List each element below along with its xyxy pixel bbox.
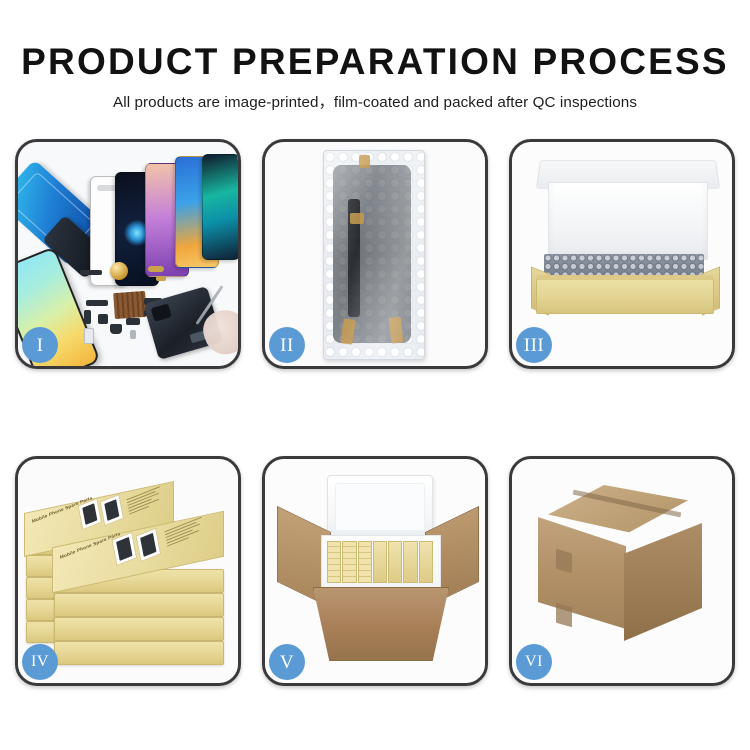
step-badge-5: V (269, 644, 305, 680)
kraft-box-row (388, 541, 402, 583)
step-badge-6: VI (516, 644, 552, 680)
step-panel-5: V (262, 456, 488, 686)
kraft-box-row (403, 541, 417, 583)
step-3-illustration: III (512, 142, 732, 366)
part-module-icon (126, 318, 140, 325)
step-badge-4: IV (22, 644, 58, 680)
step-badge-3: III (516, 327, 552, 363)
kraft-box-row (373, 541, 387, 583)
page-title: PRODUCT PREPARATION PROCESS (0, 0, 750, 82)
step-panel-1: I (15, 139, 241, 369)
step-1-illustration: I (18, 142, 238, 366)
phone-screen-teal-icon (202, 154, 238, 260)
part-flex-small-icon (156, 276, 166, 281)
stacked-box (54, 593, 224, 617)
part-strip-icon (80, 270, 102, 275)
kraft-box-row (342, 541, 356, 583)
step-5-illustration: V (265, 459, 485, 683)
step-6-illustration: VI (512, 459, 732, 683)
stacked-box (54, 641, 224, 665)
carton-tape-upper-icon (556, 549, 572, 574)
step-panel-3: III (509, 139, 735, 369)
part-speaker-icon (110, 324, 122, 334)
bubble-wrap-bag-icon (323, 150, 425, 360)
step-2-illustration: II (265, 142, 485, 366)
step-badge-2: II (269, 327, 305, 363)
part-chip-icon (98, 314, 108, 324)
part-connector-icon (84, 310, 91, 324)
gold-component-icon (110, 262, 128, 280)
kraft-boxes-inside (327, 541, 433, 583)
foam-sheet-icon (548, 182, 708, 260)
kraft-box-row (419, 541, 433, 583)
process-steps-grid: I II (15, 139, 735, 689)
carton-front-icon (313, 587, 449, 661)
tape-mid-icon (350, 213, 364, 224)
part-sim-tray-icon (84, 328, 94, 344)
step-panel-2: II (262, 139, 488, 369)
tape-top-icon (359, 155, 370, 168)
step-panel-4: Mobile Phone Spare Parts Mobile Phone Sp… (15, 456, 241, 686)
carton-tape-lower-icon (556, 603, 572, 628)
product-preparation-infographic: PRODUCT PREPARATION PROCESS All products… (0, 0, 750, 750)
header: PRODUCT PREPARATION PROCESS All products… (0, 0, 750, 112)
part-screw-icon (130, 330, 136, 339)
kraft-box-row (358, 541, 372, 583)
part-flex-cable-icon (148, 266, 164, 272)
kraft-box-stack: Mobile Phone Spare Parts Mobile Phone Sp… (22, 473, 234, 673)
styrofoam-lid-icon (327, 475, 433, 539)
step-4-illustration: Mobile Phone Spare Parts Mobile Phone Sp… (18, 459, 238, 683)
chip-grid-icon (113, 291, 147, 319)
tape-bottom-right-icon (389, 316, 404, 343)
kraft-box-front-icon (536, 278, 714, 314)
kraft-box-row (327, 541, 341, 583)
page-subtitle: All products are image-printed，film-coat… (0, 82, 750, 112)
carton-left-face-icon (538, 517, 626, 629)
stacked-box (54, 617, 224, 641)
part-bracket-icon (86, 300, 108, 306)
step-badge-1: I (22, 327, 58, 363)
carton-right-face-icon (624, 523, 702, 641)
step-panel-6: VI (509, 456, 735, 686)
